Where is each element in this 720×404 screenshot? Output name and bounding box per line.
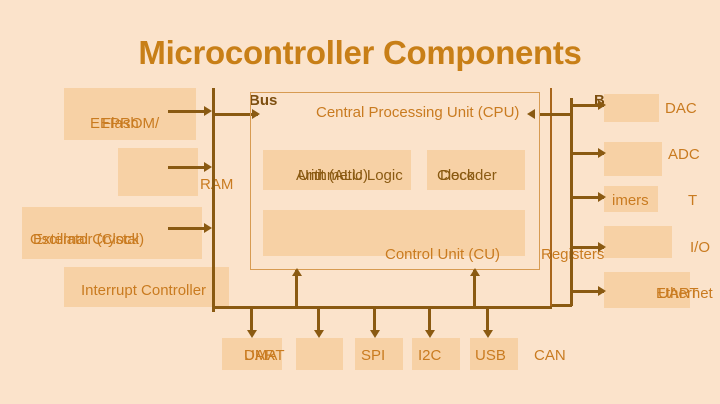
uart-dma-label: UART DMA xyxy=(244,348,300,366)
cpu-drop-arrow-1 xyxy=(292,268,302,276)
io-ports-box[interactable] xyxy=(604,226,672,258)
arrow-head-flash-to-bus xyxy=(204,106,212,116)
bus-to-timers-arrow xyxy=(598,192,606,202)
blank-peripheral-box[interactable] xyxy=(296,338,343,370)
usb-label: USB xyxy=(475,348,506,363)
alu-label-b: Unit (ALU) xyxy=(298,168,368,183)
dac-box[interactable] xyxy=(604,94,659,122)
cpu-to-right-bus-line xyxy=(540,113,573,116)
memory-flash-label: EEPROM/ Flash xyxy=(90,116,210,134)
clock-decoder-label: Clock Decoder xyxy=(437,168,527,186)
arrow-line-oscillator-to-bus xyxy=(168,227,206,230)
drop-arrow-i2c xyxy=(425,330,435,338)
arrow-head-ram-to-bus xyxy=(204,162,212,172)
ethernet-label-b: UART xyxy=(658,286,699,301)
drop-arrow-usb xyxy=(483,330,493,338)
bus-to-io-arrow xyxy=(598,242,606,252)
bus-to-ethernet-arrow xyxy=(598,286,606,296)
dac-label: DAC xyxy=(665,101,697,116)
cpu-to-right-bus-arrow xyxy=(527,109,535,119)
diagram-canvas: Microcontroller Components EEPROM/ Flash… xyxy=(0,0,720,404)
cpu-title-label: Central Processing Unit (CPU) xyxy=(316,105,519,120)
timers-label-a: imers xyxy=(612,193,649,208)
drop-arrow-uart xyxy=(247,330,257,338)
bus-to-adc-arrow xyxy=(598,148,606,158)
right-bus-bottom-connector xyxy=(552,304,572,307)
mcu-bottom-rail xyxy=(214,306,552,309)
control-unit-label: Control Unit (CU) xyxy=(385,247,500,262)
i2c-label: I2C xyxy=(418,348,441,363)
spi-label: SPI xyxy=(361,348,385,363)
cpu-drop-arrow-2 xyxy=(470,268,480,276)
clock-decoder-label-b: Decoder xyxy=(440,168,497,183)
memory-ram-box[interactable] xyxy=(118,148,198,196)
page-title: Microcontroller Components xyxy=(0,34,720,72)
adc-label: ADC xyxy=(668,147,700,162)
right-bus-line xyxy=(570,98,573,306)
interrupt-controller-label: Interrupt Controller xyxy=(81,283,206,298)
registers-label: Registers xyxy=(541,247,604,262)
ethernet-label: Ethernet UART xyxy=(656,286,720,304)
arrow-head-oscillator-to-bus xyxy=(204,223,212,233)
arrow-line-flash-to-bus xyxy=(168,110,206,113)
timers-label: imers xyxy=(612,193,666,211)
oscillator-label-b: External Crystal xyxy=(33,232,139,247)
drop-arrow-blank xyxy=(314,330,324,338)
uart-dma-label-b: DMA xyxy=(244,348,277,363)
timers-label-b: T xyxy=(688,193,697,208)
memory-flash-label-b: Flash xyxy=(102,116,139,131)
alu-label: Arithmetic Logic Unit (ALU) xyxy=(296,168,436,186)
can-label: CAN xyxy=(534,348,566,363)
io-ports-label: I/O xyxy=(690,240,710,255)
bus-to-dac-arrow xyxy=(598,100,606,110)
drop-arrow-spi xyxy=(370,330,380,338)
arrow-line-ram-to-bus xyxy=(168,166,206,169)
oscillator-label: Oscillator (Clock) External Crystal xyxy=(30,232,205,250)
adc-box[interactable] xyxy=(604,142,662,176)
